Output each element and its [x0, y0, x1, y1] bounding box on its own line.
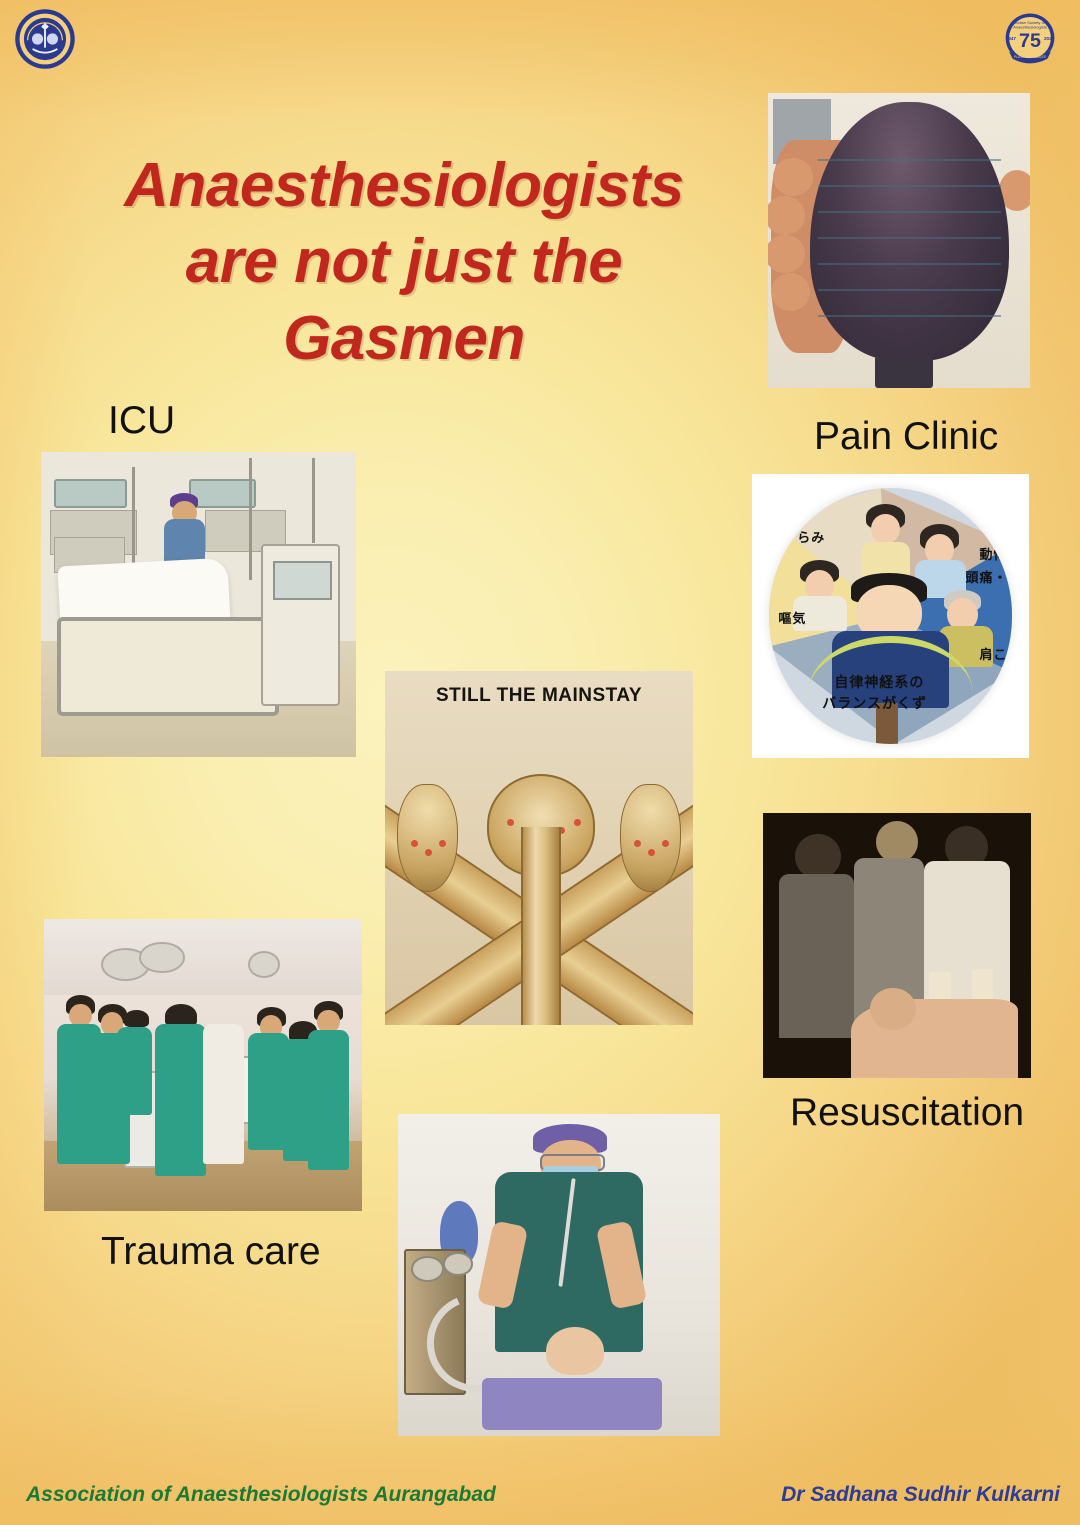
icu-monitor-2	[189, 479, 256, 507]
pc-label-nausea: 嘔気	[778, 608, 806, 627]
defib-paddle-2	[972, 969, 993, 1001]
mask-connector-stem	[875, 356, 933, 388]
svg-text:PLATINUM JUBILEE: PLATINUM JUBILEE	[1014, 55, 1047, 59]
title-line-2: are not just the	[74, 224, 734, 300]
machine-knob-2	[443, 1252, 473, 1275]
svg-text:75: 75	[1019, 30, 1041, 52]
icu-ventilator-screen	[273, 561, 331, 600]
pc-label-headache: 頭痛・	[965, 567, 1007, 586]
svg-text:2022: 2022	[1044, 36, 1055, 41]
pc-label-stiff-shoulder: 肩こ	[979, 644, 1007, 663]
chandelier-left	[397, 784, 458, 892]
staff-3-hair	[124, 1010, 149, 1028]
caption-pain-clinic: Pain Clinic	[814, 417, 998, 456]
photo-trauma-care	[44, 919, 362, 1211]
trauma-ceiling	[44, 919, 362, 995]
machine-knob-1	[411, 1256, 444, 1283]
photo-pain-clinic: ・らみ 動悸 頭痛・ 嘔気 肩こ 自律神経系の バランスがくず	[752, 474, 1029, 758]
icu-monitor-1	[54, 479, 127, 507]
icu-pole-1	[132, 467, 135, 571]
staff-4-scrubs	[155, 1024, 206, 1176]
svg-text:Anaesthesiologists: Anaesthesiologists	[1013, 25, 1047, 30]
staff-3-scrubs	[117, 1027, 152, 1115]
finger-3	[768, 235, 805, 273]
finger-1	[773, 158, 812, 196]
caption-icu: ICU	[108, 401, 175, 440]
finger-4	[771, 273, 810, 311]
finger-2	[768, 196, 805, 234]
anaesthesia-face-mask	[810, 102, 1009, 362]
photo-mask-in-hand	[768, 93, 1030, 388]
title-line-1: Anaesthesiologists	[74, 148, 734, 224]
pc-label-balance: バランスがくず	[822, 693, 927, 713]
icu-pole-2	[249, 458, 252, 580]
photo-resuscitation	[763, 813, 1031, 1078]
isa-branch-seal-logo	[14, 8, 76, 70]
title-line-3: Gasmen	[74, 301, 734, 377]
rescuer-1-body	[779, 874, 854, 1038]
rescuer-2-head	[876, 821, 919, 863]
patient-head	[870, 988, 916, 1030]
staff-8-scrubs	[308, 1030, 349, 1170]
icu-ventilator	[261, 544, 341, 707]
icu-pole-3	[312, 458, 315, 543]
poster-title: Anaesthesiologists are not just the Gasm…	[74, 148, 734, 377]
poster-slide: Indian Society of Anaesthesiologists 75 …	[0, 0, 1080, 1525]
rescuer-1-head	[795, 834, 841, 879]
photo-icu	[41, 452, 356, 757]
caption-resuscitation: Resuscitation	[790, 1093, 1024, 1132]
svg-text:1947: 1947	[1006, 36, 1017, 41]
mainstay-overlay-text: STILL THE MAINSTAY	[385, 685, 693, 707]
staff-5-coat	[203, 1024, 244, 1164]
pain-clinic-illustration-disc: ・らみ 動悸 頭痛・ 嘔気 肩こ 自律神経系の バランスがくず	[769, 488, 1013, 744]
isa-75-anniversary-logo: Indian Society of Anaesthesiologists 75 …	[1001, 11, 1059, 67]
surgical-lamp-2	[139, 942, 184, 972]
chandelier-right	[620, 784, 681, 892]
pc-label-dizzy: ・らみ	[783, 527, 825, 546]
caption-trauma-care: Trauma care	[101, 1232, 321, 1271]
footer-author: Dr Sadhana Sudhir Kulkarni	[781, 1483, 1060, 1507]
photo-intubation	[398, 1114, 720, 1436]
pc-label-autonomic: 自律神経系の	[834, 672, 924, 692]
pc-label-palpitation: 動悸	[979, 544, 1007, 563]
footer-association: Association of Anaesthesiologists Aurang…	[26, 1483, 496, 1507]
icu-bed-rail	[57, 617, 279, 717]
photo-still-the-mainstay: STILL THE MAINSTAY	[385, 671, 693, 1025]
intubation-patient-head	[546, 1327, 604, 1375]
patient-drape	[482, 1378, 662, 1430]
central-column	[521, 827, 562, 1025]
